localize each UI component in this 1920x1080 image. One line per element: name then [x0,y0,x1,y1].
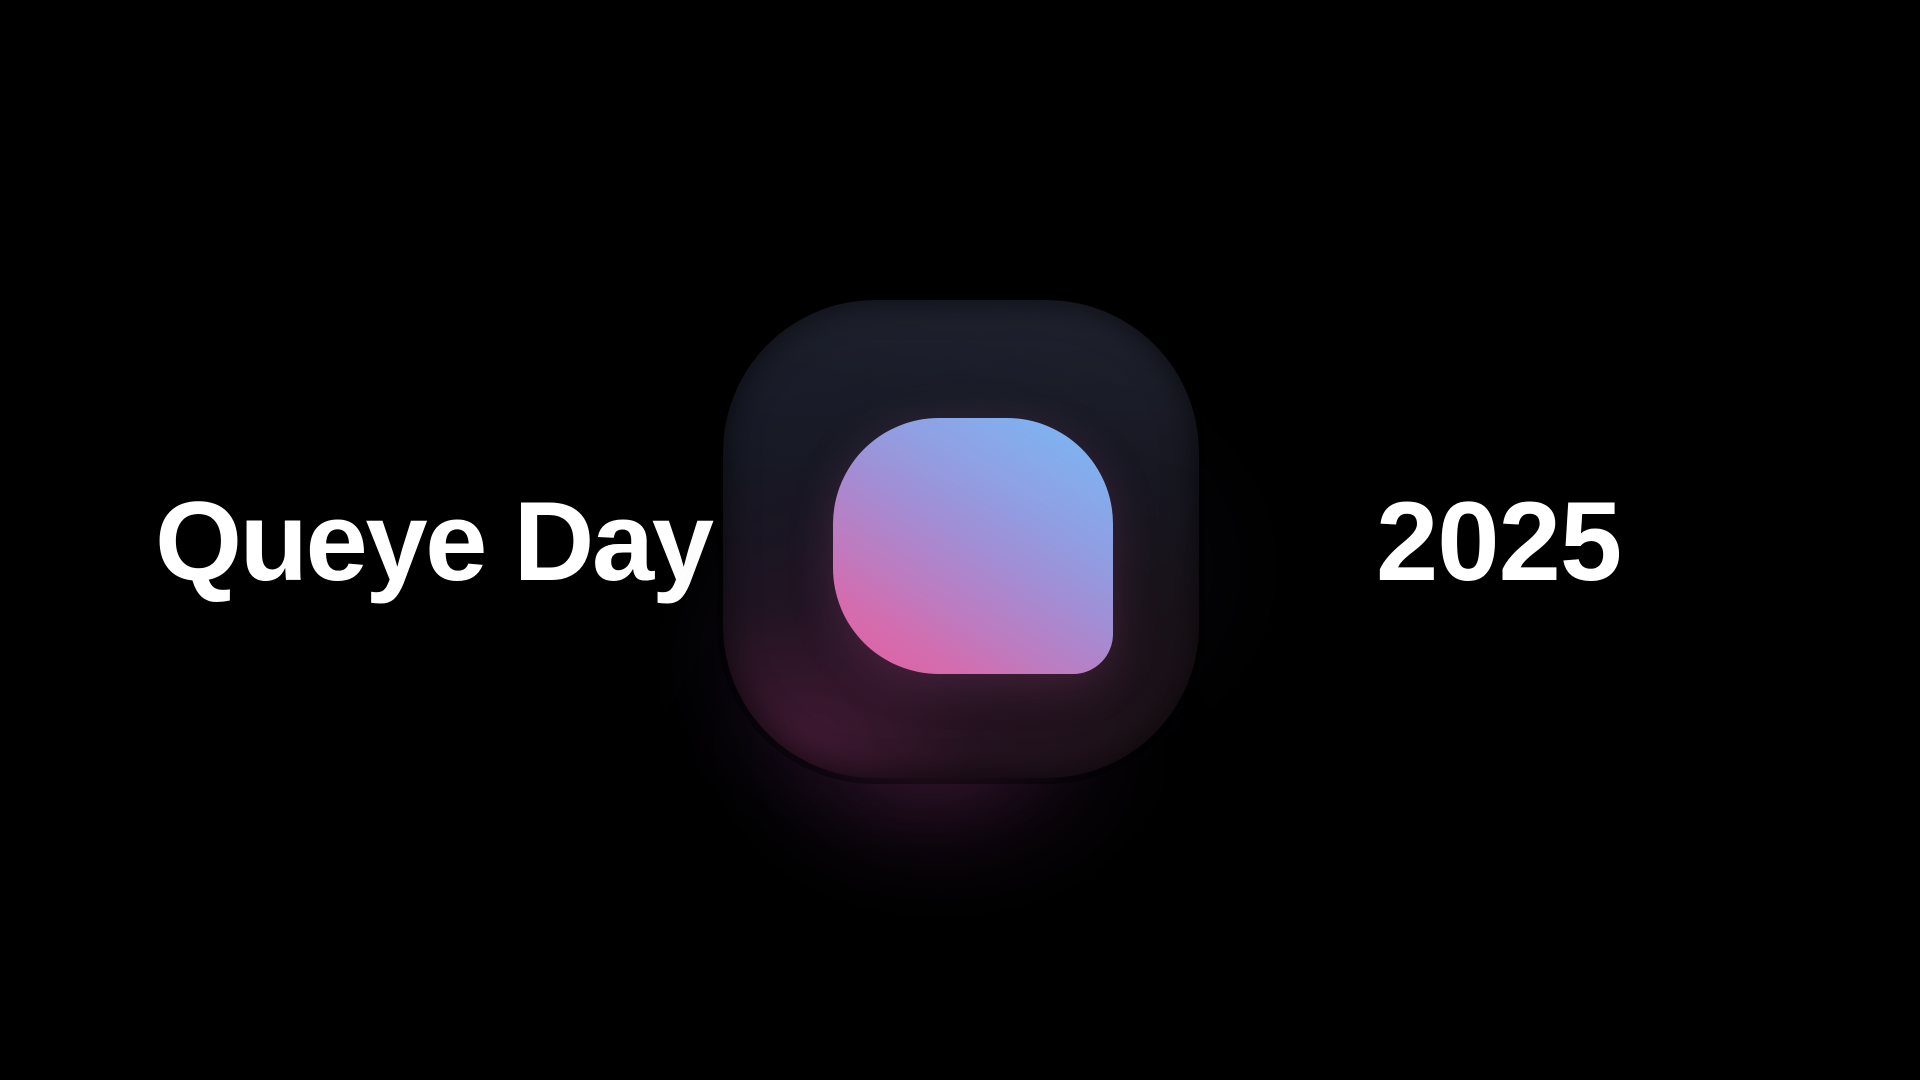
app-icon-tile [723,300,1199,778]
app-icon [723,300,1199,780]
page-canvas: Queye Day 2025 [0,0,1920,1080]
brand-lockup: Queye Day 2025 [0,0,1920,1080]
app-icon-glyph [833,418,1113,674]
wordmark-text: Queye Day [155,486,711,598]
year-text: 2025 [1376,486,1621,598]
